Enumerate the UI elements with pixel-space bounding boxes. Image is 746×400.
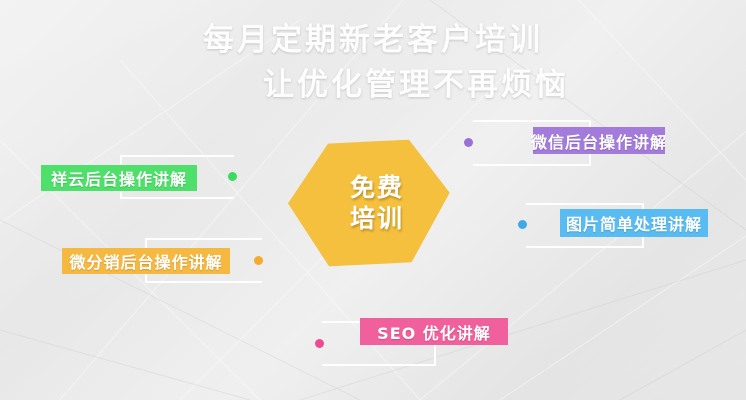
connector-dot-tupian: [518, 220, 527, 229]
topic-label-seo[interactable]: SEO 优化讲解: [360, 318, 508, 345]
connector-dot-xiangyun: [228, 172, 237, 181]
headline: 每月定期新老客户培训 让优化管理不再烦恼: [0, 18, 746, 108]
free-training-hexagon[interactable]: 免费 培训: [288, 141, 450, 265]
hexagon-label: 免费 培训: [288, 141, 450, 265]
connector-dot-seo: [315, 339, 324, 348]
topic-label-weixin[interactable]: 微信后台操作讲解: [533, 127, 665, 154]
headline-line-1: 每月定期新老客户培训: [203, 22, 543, 58]
connector-dot-weifenxiao: [254, 256, 263, 265]
topic-label-xiangyun[interactable]: 祥云后台操作讲解: [41, 165, 197, 191]
hexagon-label-line-1: 免费: [350, 172, 404, 203]
topic-label-weifenxiao[interactable]: 微分销后台操作讲解: [62, 248, 230, 274]
connector-dot-weixin: [464, 138, 473, 147]
promo-banner: 每月定期新老客户培训 让优化管理不再烦恼 免费 培训 祥云后台操作讲解 微分销后…: [0, 0, 746, 400]
hexagon-label-line-2: 培训: [350, 203, 404, 234]
headline-line-2: 让优化管理不再烦恼: [0, 63, 746, 108]
topic-label-tupian[interactable]: 图片简单处理讲解: [560, 209, 708, 237]
